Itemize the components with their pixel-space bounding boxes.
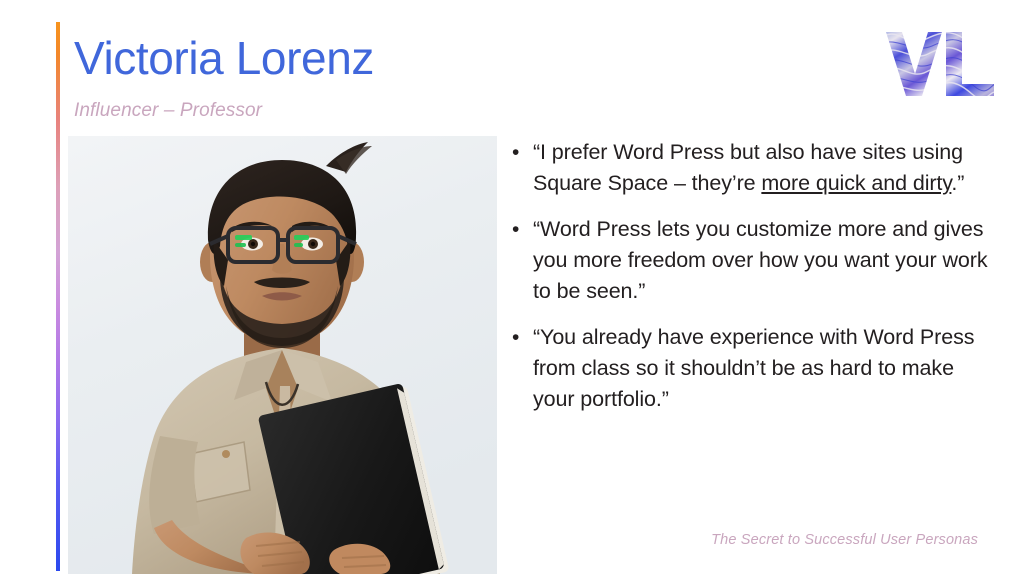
persona-portrait-photo (68, 136, 497, 574)
vl-monogram-logo (882, 26, 998, 100)
quote-text: “Word Press lets you customize more and … (533, 214, 990, 307)
quote-segment: “You already have experience with Word P… (533, 325, 974, 411)
quote-segment: “Word Press lets you customize more and … (533, 217, 987, 303)
quote-text: “You already have experience with Word P… (533, 322, 990, 415)
quote-segment: .” (951, 171, 964, 195)
persona-quotes-list: • “I prefer Word Press but also have sit… (512, 137, 990, 430)
bullet-marker: • (512, 214, 533, 245)
list-item: • “Word Press lets you customize more an… (512, 214, 990, 307)
bullet-marker: • (512, 137, 533, 168)
bullet-marker: • (512, 322, 533, 353)
left-gradient-accent-bar (56, 22, 60, 571)
page-subtitle: Influencer – Professor (74, 100, 262, 122)
slide-footer: The Secret to Successful User Personas (711, 532, 978, 548)
quote-text: “I prefer Word Press but also have sites… (533, 137, 990, 199)
list-item: • “I prefer Word Press but also have sit… (512, 137, 990, 199)
page-title: Victoria Lorenz (74, 34, 374, 82)
list-item: • “You already have experience with Word… (512, 322, 990, 415)
persona-slide: Victoria Lorenz Influencer – Professor (0, 0, 1022, 574)
quote-segment-underlined: more quick and dirty (761, 171, 951, 195)
